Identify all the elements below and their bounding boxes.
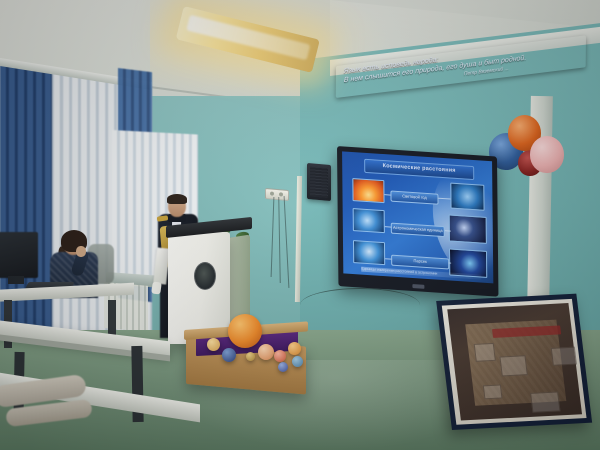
slide-label-3: Парсек [391,255,449,270]
slide-thumbnail-earth-star [353,240,385,265]
computer-monitor[interactable] [0,232,38,278]
slide-title: Космические расстояния [364,159,474,180]
balloon-pink [530,136,564,173]
model-planet [222,348,236,362]
seated-woman-hand [76,246,86,257]
presenter-hair [167,194,187,204]
model-planet [288,342,301,355]
model-planet [278,362,288,372]
poster-cell [474,343,496,362]
presenter-glove [151,281,162,294]
model-planet-sun [228,314,262,348]
model-planet [246,352,255,361]
slide-label-2: Астрономическая единица [391,223,445,238]
speaker-grill [310,166,328,198]
model-planet [258,344,274,360]
model-planet [207,338,220,351]
slide-thumbnail-globe [450,183,484,211]
classroom-photo: Язык есть исповедь народа: В нем слышитс… [0,0,600,450]
tv-brand-logo [412,284,424,289]
monitor-stand [8,276,24,284]
wall-socket[interactable] [265,188,289,201]
model-planet [274,350,286,362]
screen-content: Космические расстояния Световой год Астр… [342,151,493,283]
podium-emblem [194,262,216,290]
poster-cell [530,391,560,412]
poster-backing [447,303,582,421]
poster-cell [483,384,503,399]
slide-thumbnail-earth-orbit [353,208,385,233]
presentation-screen[interactable]: Космические расстояния Световой год Астр… [337,146,498,297]
poster-cell [551,347,577,366]
slide-label-1: Световой год [390,191,438,205]
wall-speaker [307,163,331,201]
model-planet [292,356,303,367]
slide-thumbnail-galaxy [449,214,487,244]
slide-thumbnail-sun [352,178,384,203]
poster-cell [499,355,527,376]
framed-poster [436,294,592,430]
